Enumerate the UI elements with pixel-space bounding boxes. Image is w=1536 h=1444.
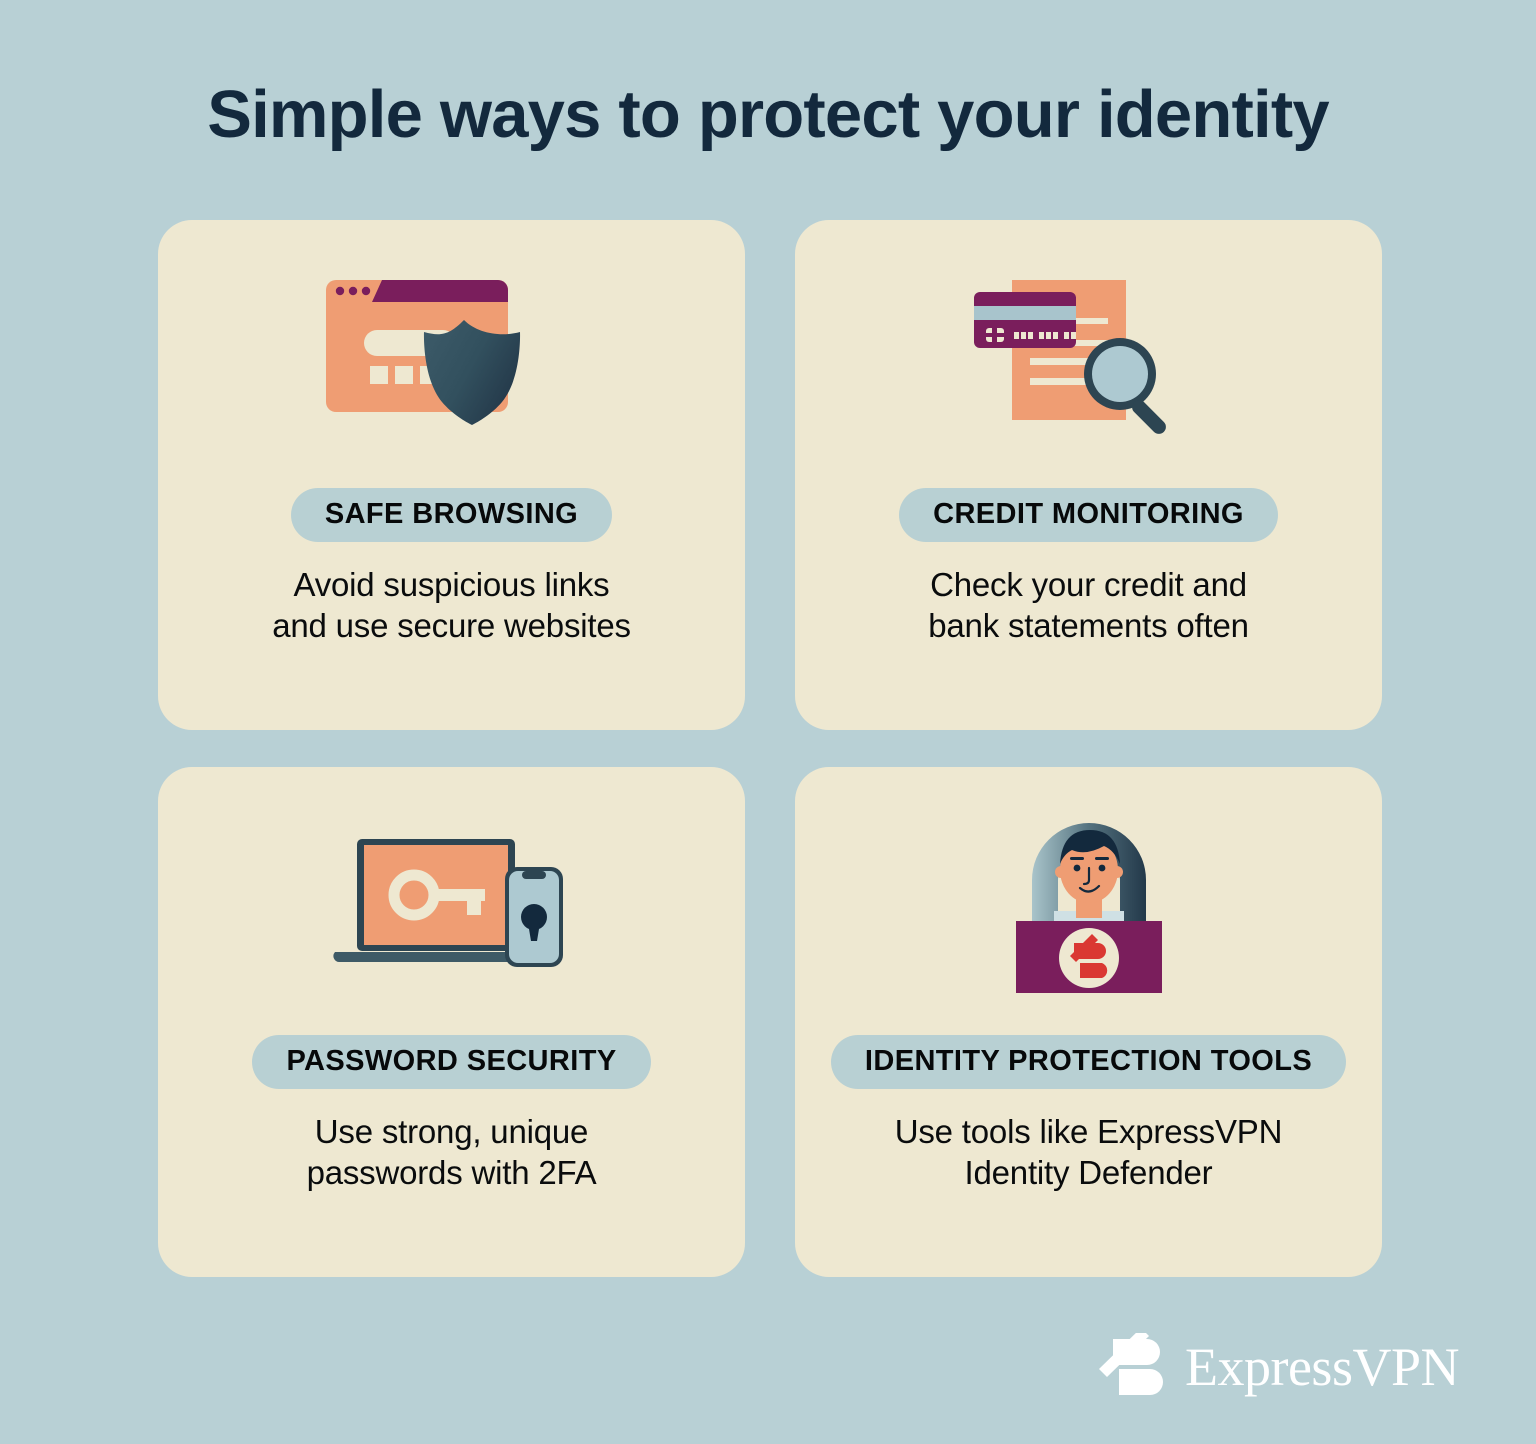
expressvpn-wordmark: ExpressVPN [1185,1340,1459,1394]
browser-shield-icon [322,274,582,434]
expressvpn-logo: ExpressVPN [1097,1333,1459,1401]
card-description-identity-protection-tools: Use tools like ExpressVPN Identity Defen… [895,1112,1282,1193]
card-label-credit-monitoring: CREDIT MONITORING [899,488,1278,542]
icon-container [795,767,1382,1035]
card-label-safe-browsing: SAFE BROWSING [291,488,612,542]
padlock-person-icon [994,806,1184,996]
expressvpn-e-mark-icon [1097,1333,1169,1401]
card-password-security[interactable]: PASSWORD SECURITY Use strong, unique pas… [158,767,745,1277]
icon-container [158,767,745,1035]
card-description-password-security: Use strong, unique passwords with 2FA [307,1112,597,1193]
tips-grid: SAFE BROWSING Avoid suspicious links and… [158,220,1382,1277]
card-label-password-security: PASSWORD SECURITY [252,1035,650,1089]
card-identity-protection-tools[interactable]: IDENTITY PROTECTION TOOLS Use tools like… [795,767,1382,1277]
card-description-safe-browsing: Avoid suspicious links and use secure we… [272,565,631,646]
card-credit-monitoring[interactable]: CREDIT MONITORING Check your credit and … [795,220,1382,730]
icon-container [795,220,1382,488]
card-label-identity-protection-tools: IDENTITY PROTECTION TOOLS [831,1035,1346,1089]
page-title: Simple ways to protect your identity [0,78,1536,152]
infographic-page: Simple ways to protect your identity [0,0,1536,1444]
laptop-phone-key-icon [317,821,587,981]
card-description-credit-monitoring: Check your credit and bank statements of… [928,565,1249,646]
icon-container [158,220,745,488]
card-safe-browsing[interactable]: SAFE BROWSING Avoid suspicious links and… [158,220,745,730]
credit-card-magnifier-icon [964,274,1214,434]
